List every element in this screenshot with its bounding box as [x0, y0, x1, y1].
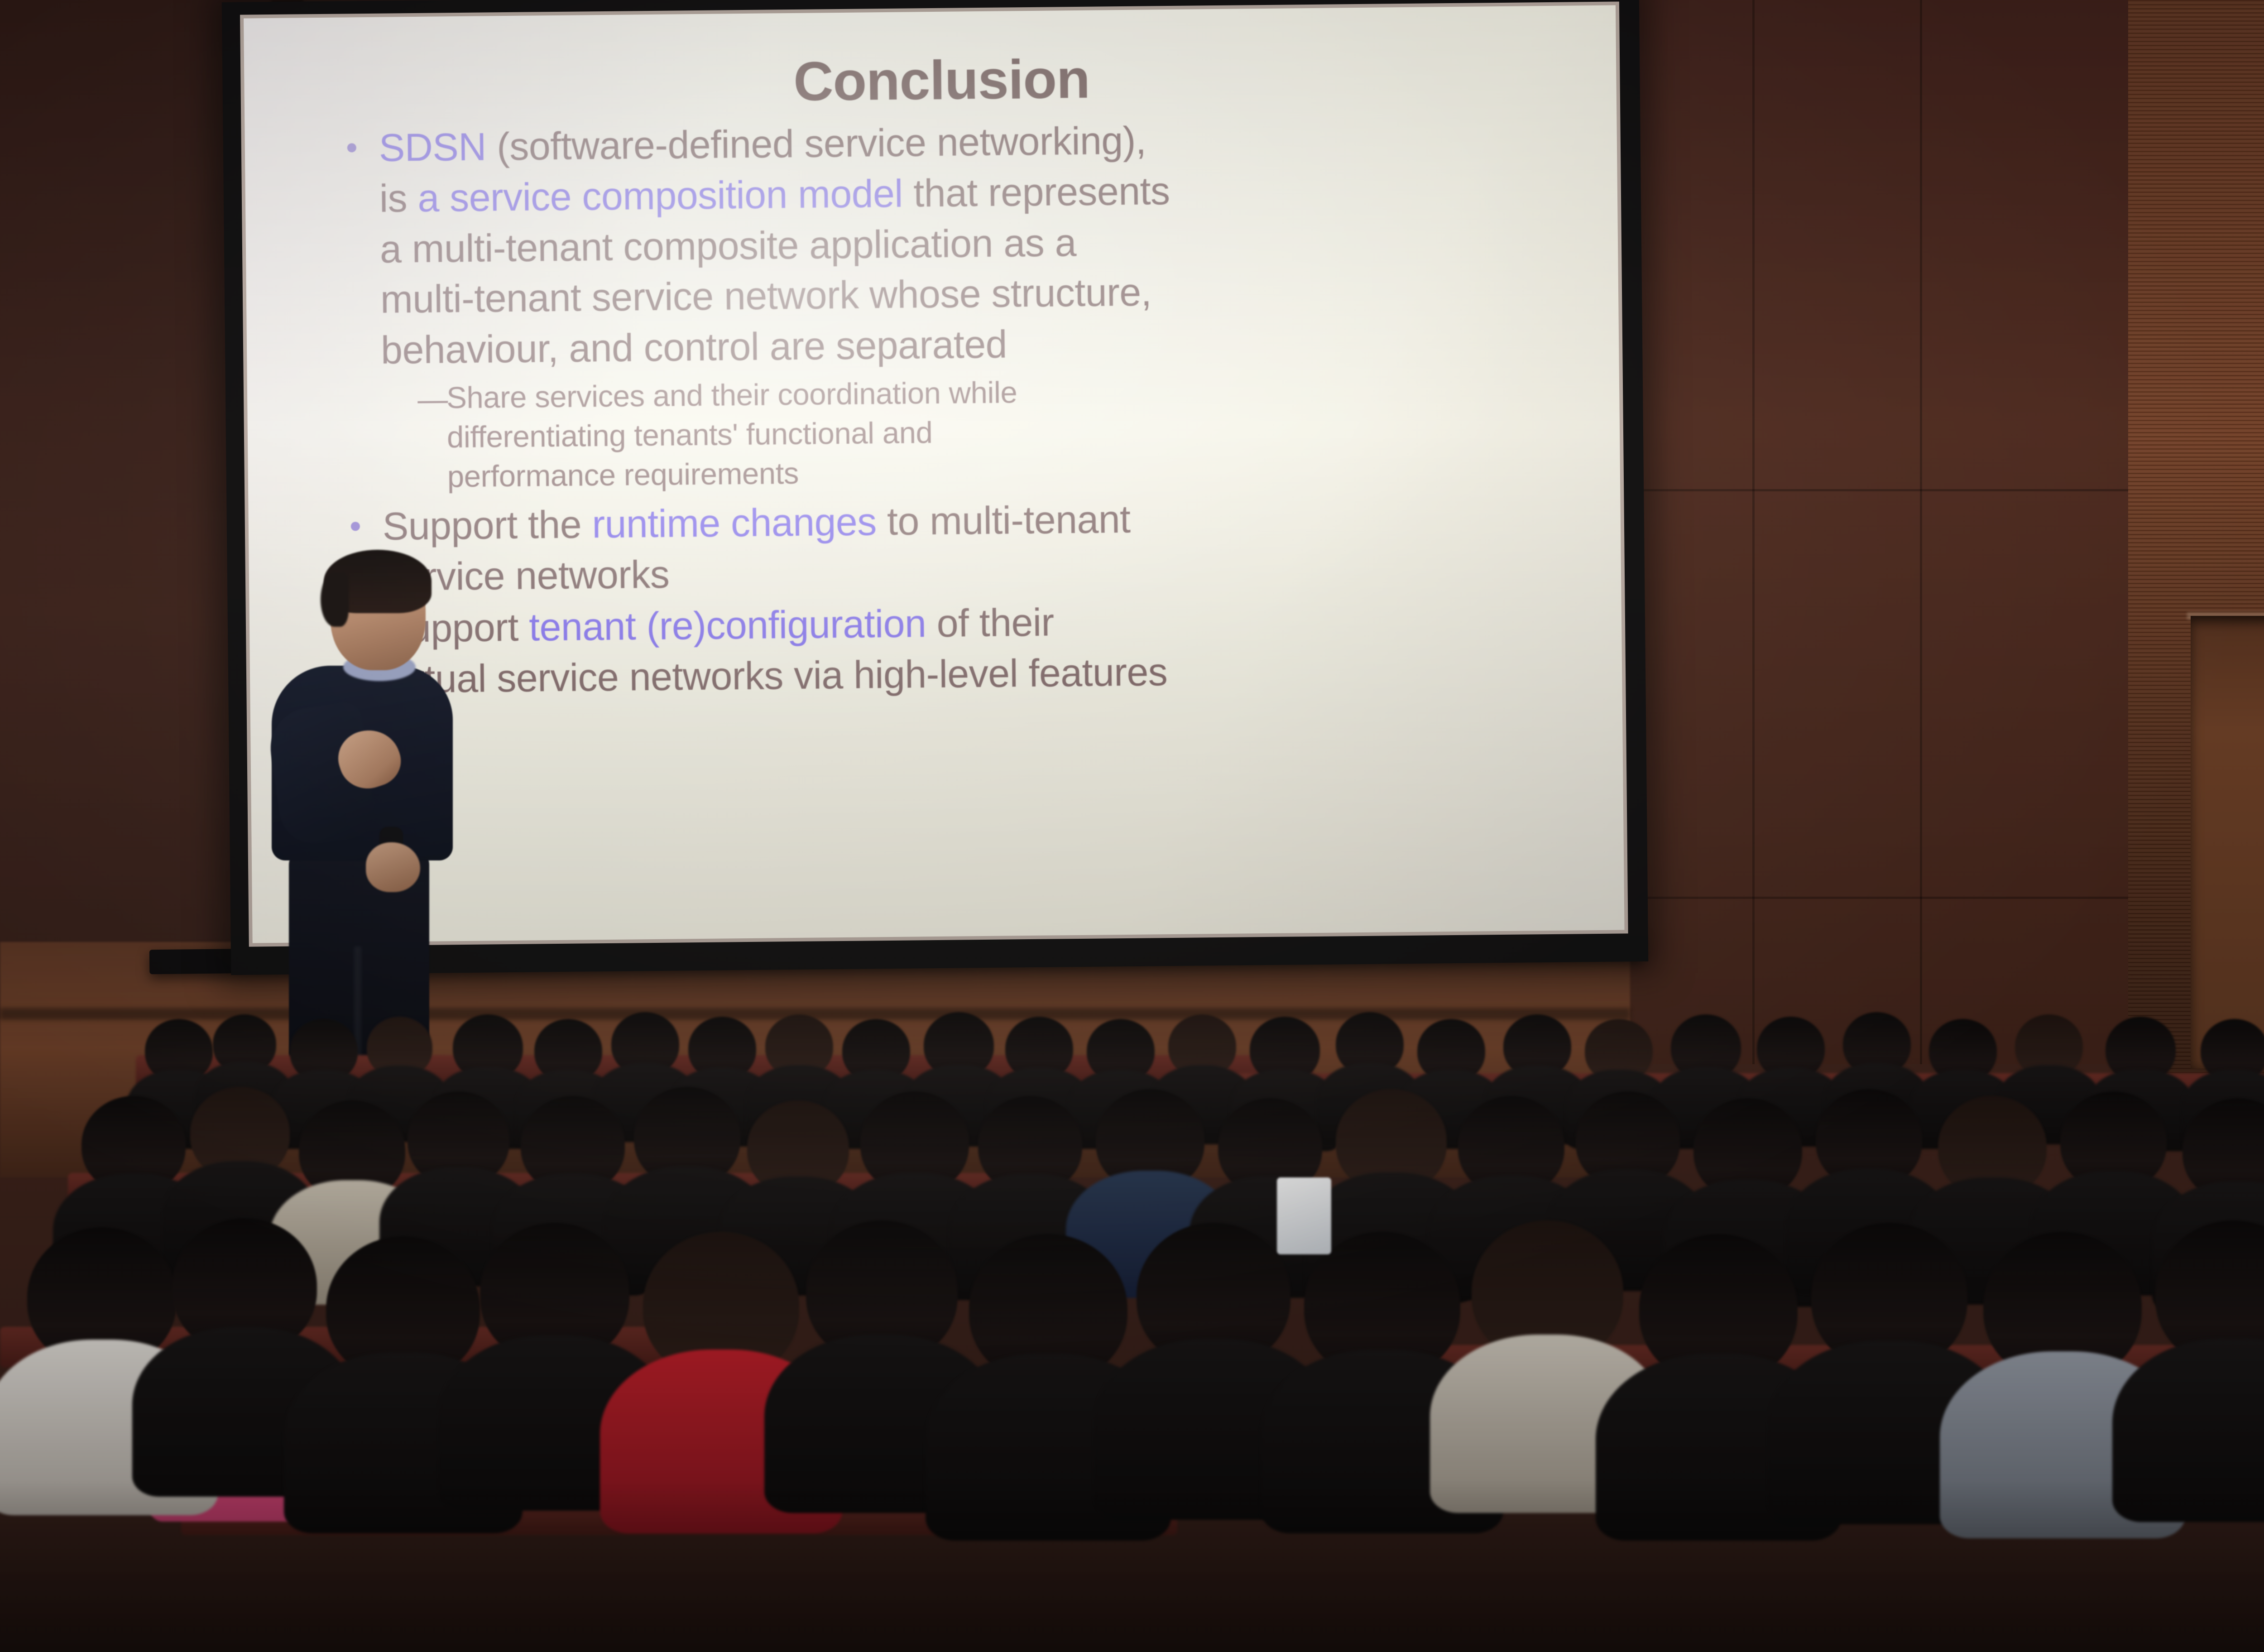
speaker-hair-side: [321, 572, 349, 627]
slide-bullet-line: service networks: [383, 541, 1553, 603]
slide-text-run: a multi-tenant composite application as …: [380, 221, 1077, 271]
bullet-dot-icon: [351, 522, 360, 531]
audience-seating: [0, 883, 2264, 1652]
slide-text-run: (software-defined service networking),: [486, 119, 1146, 168]
slide-text-run: virtual service networks via high-level …: [384, 650, 1168, 701]
em-dash-icon: —: [417, 380, 448, 420]
slide-text-highlight: a service composition model: [417, 172, 903, 220]
slide-bullet-line: virtual service networks via high-level …: [384, 644, 1554, 706]
slide-bullet-2: Support the runtime changes to multi-ten…: [339, 490, 1553, 603]
slide-title: Conclusion: [335, 47, 1549, 114]
slide-bullet-line: behaviour, and control are separated: [381, 314, 1551, 376]
slide-bullet-1: SDSN (software-defined service networkin…: [335, 112, 1552, 498]
phone-screen-glow: [1277, 1177, 1331, 1254]
slide-text-highlight: runtime changes: [592, 500, 877, 547]
slide-text-highlight: SDSN: [379, 125, 486, 169]
slide-text-run: Share services and their coordination wh…: [446, 375, 1017, 415]
slide-text-highlight: tenant (re)configuration: [529, 602, 926, 649]
slide-bullet-3: Support tenant (re)configuration of thei…: [340, 593, 1554, 706]
slide-text-run: performance requirements: [447, 456, 799, 494]
slide-text-run: that represents: [902, 169, 1170, 216]
bullet-dot-icon: [347, 143, 356, 152]
slide-text-run: behaviour, and control are separated: [381, 323, 1007, 372]
slide-text-run: multi-tenant service network whose struc…: [380, 271, 1152, 322]
slide-text-run: to multi-tenant: [876, 498, 1131, 543]
slide-text-run: of their: [926, 600, 1054, 645]
slide-text-run: Support the: [382, 503, 592, 548]
slide-text-run: is: [379, 177, 417, 221]
slide-subbullet-list: —Share services and their coordination w…: [381, 368, 1552, 497]
slide-bullet-list: SDSN (software-defined service networkin…: [335, 112, 1554, 706]
lecture-hall-photo: Conclusion SDSN (software-defined servic…: [0, 0, 2264, 1652]
slide-text-run: differentiating tenants' functional and: [447, 416, 933, 454]
slide-subbullet-1: —Share services and their coordination w…: [417, 368, 1552, 497]
